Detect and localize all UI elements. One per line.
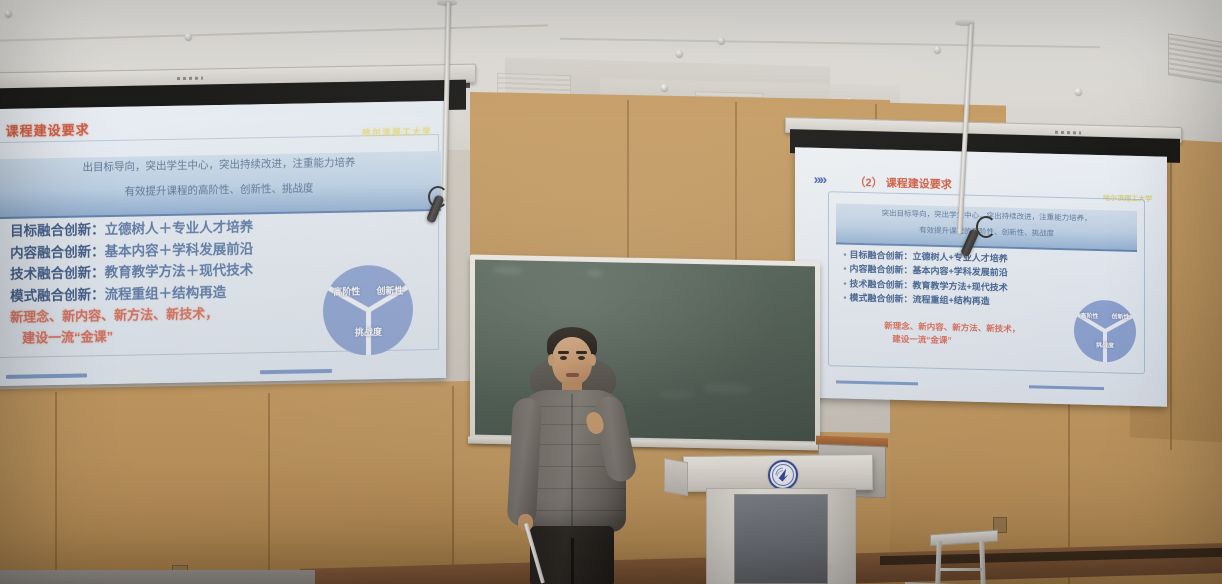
left-slide-red-text: 新理念、新内容、新方法、新技术， 建设一流“金课” (10, 304, 218, 348)
ceiling-light-dot (1075, 88, 1082, 95)
right-slide-title-text: 课程建设要求 (886, 178, 952, 192)
left-slide-logo-watermark: 哈尔滨理工大学 (362, 126, 432, 138)
lectern-button[interactable] (828, 565, 832, 569)
ear (548, 354, 555, 366)
bullet-value: 基本内容+学科发展前沿 (913, 266, 1008, 278)
red-line-2: 建设一流“金课” (10, 325, 218, 349)
crest-mark (770, 462, 796, 488)
stool-leg (935, 541, 942, 584)
ceiling-light-dot (185, 33, 192, 40)
chalk-smudge (587, 270, 603, 277)
university-crest-icon (768, 460, 798, 490)
slide-foot-bar (260, 369, 333, 374)
housing-vent (1055, 131, 1081, 135)
bullet-key: 目标融合创新： (850, 249, 913, 261)
left-bullet-row: 模式融合创新：流程重组＋结构再造 (10, 281, 253, 307)
bullet-value: 基本内容＋学科发展前沿 (105, 241, 254, 259)
bullet-key: 内容融合创新： (850, 264, 913, 276)
bullet-value: 教育教学方法＋现代技术 (105, 263, 254, 281)
left-banner-line-2: 有效提升课程的高阶性、创新性、挑战度 (0, 179, 441, 203)
mic-cable-loop-right (976, 216, 996, 238)
left-banner-line-1: 出目标导向，突出学生中心，突出持续改进，注重能力培养 (0, 154, 441, 178)
bullet-key: 模式融合创新： (10, 287, 105, 304)
left-slide-wheel-diagram: 高阶性 创新性 挑战度 (323, 265, 413, 357)
stool-brace (940, 568, 982, 571)
right-slide-title: （2） 课程建设要求 (855, 174, 952, 192)
bullet-marker: • (843, 264, 846, 274)
left-slide-banner: 出目标导向，突出学生中心，突出持续改进，注重能力培养 有效提升课程的高阶性、创新… (0, 151, 441, 219)
bullet-key: 内容融合创新： (10, 244, 105, 261)
lecture-hall-photo: 课程建设要求 哈尔滨理工大学 出目标导向，突出学生中心，突出持续改进，注重能力培… (0, 0, 1222, 584)
bullet-key: 技术融合创新： (850, 279, 913, 291)
wheel-label: 高阶性 (331, 287, 363, 297)
eye (578, 356, 585, 360)
left-projection-screen: 课程建设要求 哈尔滨理工大学 出目标导向，突出学生中心，突出持续改进，注重能力培… (0, 101, 446, 386)
ear (589, 354, 596, 366)
bullet-marker: • (843, 278, 846, 288)
right-slide-number: （2） (855, 177, 883, 190)
bullet-key: 目标融合创新： (10, 222, 105, 239)
wood-seam (452, 386, 454, 584)
lectern-top-left-side (664, 458, 688, 496)
wood-panel-wall-lower (0, 381, 480, 584)
right-slide-bullets: •目标融合创新：立德树人+专业人才培养 •内容融合创新：基本内容+学科发展前沿 … (843, 247, 1007, 309)
wood-seam (1170, 150, 1172, 450)
stool (930, 532, 996, 584)
slide-foot-bar (6, 373, 88, 378)
bullet-value: 立德树人＋专业人才培养 (105, 220, 254, 238)
slide-foot-bar (1029, 385, 1103, 390)
left-slide: 课程建设要求 哈尔滨理工大学 出目标导向，突出学生中心，突出持续改进，注重能力培… (0, 101, 446, 386)
bullet-marker: • (843, 249, 846, 259)
right-slide-red-text: 新理念、新内容、新方法、新技术， 建设一流“金课” (884, 320, 1020, 349)
trouser-split (571, 538, 574, 584)
stool-leg (979, 541, 986, 584)
wood-seam (55, 392, 57, 584)
right-slide-chevron-icon: »» (814, 170, 826, 186)
lectern-top (683, 454, 873, 492)
red-line-1: 新理念、新内容、新方法、新技术， (10, 304, 218, 328)
slide-foot-bar (836, 380, 918, 385)
chalk-smudge (493, 266, 523, 275)
ceiling-light-dot (5, 10, 12, 17)
ceiling-light-dot (661, 84, 668, 91)
eyebrow (576, 351, 587, 354)
ceiling-light-dot (718, 37, 725, 44)
right-projection-screen: »» （2） 课程建设要求 哈尔滨理工大学 突出目标导向，突出学生中心，突出持续… (795, 147, 1167, 406)
presenter (500, 300, 660, 584)
floor-left (0, 570, 315, 584)
jacket-zipper (571, 394, 573, 526)
bullet-value: 流程重组＋结构再造 (105, 285, 227, 302)
left-slide-bullets: 目标融合创新：立德树人＋专业人才培养 内容融合创新：基本内容＋学科发展前沿 技术… (10, 217, 253, 308)
lectern-control-panel[interactable] (734, 494, 828, 584)
wheel-label: 高阶性 (1078, 313, 1102, 320)
ceiling-light-dot (676, 50, 683, 57)
wheel-label: 挑战度 (1090, 343, 1120, 350)
left-slide-title: 课程建设要求 (6, 120, 90, 141)
mouth (566, 373, 579, 377)
chalk-smudge (703, 382, 751, 395)
bullet-key: 技术融合创新： (10, 265, 105, 282)
eye (560, 356, 567, 360)
bullet-marker: • (843, 293, 846, 303)
wheel-label: 挑战度 (349, 328, 389, 339)
wheel-label: 创新性 (1109, 314, 1133, 321)
head (552, 337, 592, 385)
bullet-value: 流程重组+结构再造 (913, 295, 990, 307)
right-slide: »» （2） 课程建设要求 哈尔滨理工大学 突出目标导向，突出学生中心，突出持续… (795, 147, 1167, 406)
housing-vent (177, 77, 203, 80)
chalk-smudge (659, 389, 695, 400)
ceiling-light-dot (934, 46, 941, 53)
right-slide-wheel-diagram: 高阶性 创新性 挑战度 (1074, 299, 1136, 363)
wood-seam (268, 393, 270, 584)
bullet-value: 教育教学方法+现代技术 (913, 280, 1008, 292)
bullet-key: 模式融合创新： (850, 293, 913, 305)
wheel-label: 创新性 (374, 287, 406, 297)
eyebrow (558, 351, 569, 354)
